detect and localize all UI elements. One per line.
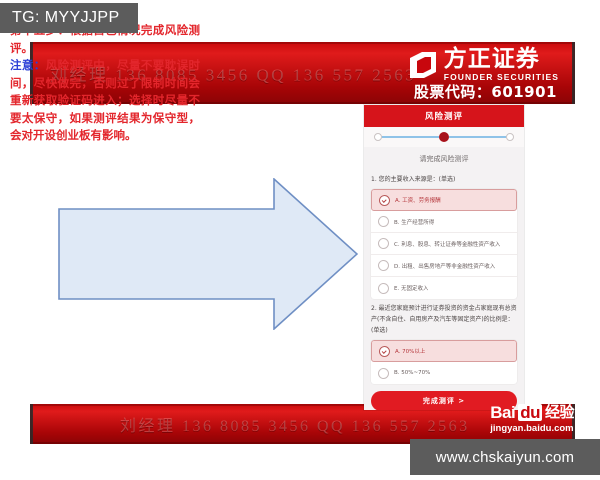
question-2-title: 2. 最近您家庭预计进行证券投资的资金占家庭现有总资产(不含自住、自用房产及汽车… — [371, 303, 517, 336]
callout-instruction-text: 第十五步：根据自己情况完成风险测评。 注意：风险测评中，尽量不要耽误时间，尽快做… — [10, 22, 200, 145]
phone-subtitle: 请完成风险测评 — [364, 147, 524, 170]
question-block-1: 1. 您的主要收入来源是：(单选) A. 工资、劳务报酬 B. 生产经营所得 C… — [364, 174, 524, 299]
question-1-options: A. 工资、劳务报酬 B. 生产经营所得 C. 利息、股息、转让证券等金融性资产… — [371, 189, 517, 299]
radio-checked-icon — [379, 346, 390, 357]
baidu-logo-cn: 经验 — [545, 405, 574, 420]
phone-header-bar: 风险测评 — [364, 105, 524, 127]
founder-diamond-logo-icon — [408, 50, 438, 80]
phone-header-title: 风险测评 — [425, 110, 463, 122]
baidu-logo: Baidu经验 — [490, 404, 574, 421]
callout-arrow-shape — [58, 178, 358, 330]
option-2b-label: B. 50%~70% — [394, 370, 430, 376]
phone-screenshot: 风险测评 请完成风险测评 1. 您的主要收入来源是：(单选) A. 工资、劳务报… — [364, 105, 524, 410]
radio-icon — [378, 238, 389, 249]
screenshot-canvas: TG: MYYJJPP 刘经理 136 8085 3456 QQ 136 557… — [0, 0, 600, 480]
option-1a-label: A. 工资、劳务报酬 — [395, 196, 441, 204]
stock-code-label: 股票代码：601901 — [414, 81, 557, 102]
progress-stepper — [364, 127, 524, 147]
option-1e-label: E. 无固定收入 — [394, 284, 428, 292]
radio-icon — [378, 260, 389, 271]
radio-icon — [378, 368, 389, 379]
baidu-jingyan-watermark: Baidu经验 jingyan.baidu.com — [490, 404, 574, 434]
option-1c-label: C. 利息、股息、转让证券等金融性资产收入 — [394, 240, 500, 248]
option-1a[interactable]: A. 工资、劳务报酬 — [371, 189, 517, 211]
telegram-watermark-tag: TG: MYYJJPP — [0, 3, 138, 33]
callout-note-label: 注意： — [10, 58, 46, 72]
stepper-line-1 — [382, 136, 439, 138]
stepper-line-2 — [449, 136, 506, 138]
question-block-2: 2. 最近您家庭预计进行证券投资的资金占家庭现有总资产(不含自住、自用房产及汽车… — [364, 303, 524, 384]
baidu-logo-du: du — [518, 404, 542, 421]
banner-contact-text-bottom: 刘经理 136 8085 3456 QQ 136 557 2563 — [120, 412, 470, 436]
radio-icon — [378, 283, 389, 294]
option-2b[interactable]: B. 50%~70% — [371, 362, 517, 384]
question-1-title: 1. 您的主要收入来源是：(单选) — [371, 174, 517, 185]
option-2a[interactable]: A. 70%以上 — [371, 340, 517, 362]
stepper-dot-1 — [374, 133, 382, 141]
question-2-options: A. 70%以上 B. 50%~70% — [371, 340, 517, 384]
radio-icon — [378, 216, 389, 227]
option-1d[interactable]: D. 出租、出售房地产等非金融性资产收入 — [371, 255, 517, 277]
option-1d-label: D. 出租、出售房地产等非金融性资产收入 — [394, 262, 495, 270]
option-1b-label: B. 生产经营所得 — [394, 218, 434, 226]
site-url-watermark: www.chskaiyun.com — [410, 439, 600, 475]
stepper-dot-2-active — [439, 132, 449, 142]
radio-checked-icon — [379, 195, 390, 206]
founder-securities-brand: 方正证券 FOUNDER SECURITIES — [408, 48, 559, 82]
baidu-jingyan-url: jingyan.baidu.com — [490, 424, 573, 434]
option-1e[interactable]: E. 无固定收入 — [371, 277, 517, 299]
option-1c[interactable]: C. 利息、股息、转让证券等金融性资产收入 — [371, 233, 517, 255]
baidu-logo-bai: Bai — [490, 404, 515, 421]
option-1b[interactable]: B. 生产经营所得 — [371, 211, 517, 233]
option-2a-label: A. 70%以上 — [395, 347, 425, 355]
brand-name-cn: 方正证券 — [444, 48, 559, 71]
stepper-dot-3 — [506, 133, 514, 141]
